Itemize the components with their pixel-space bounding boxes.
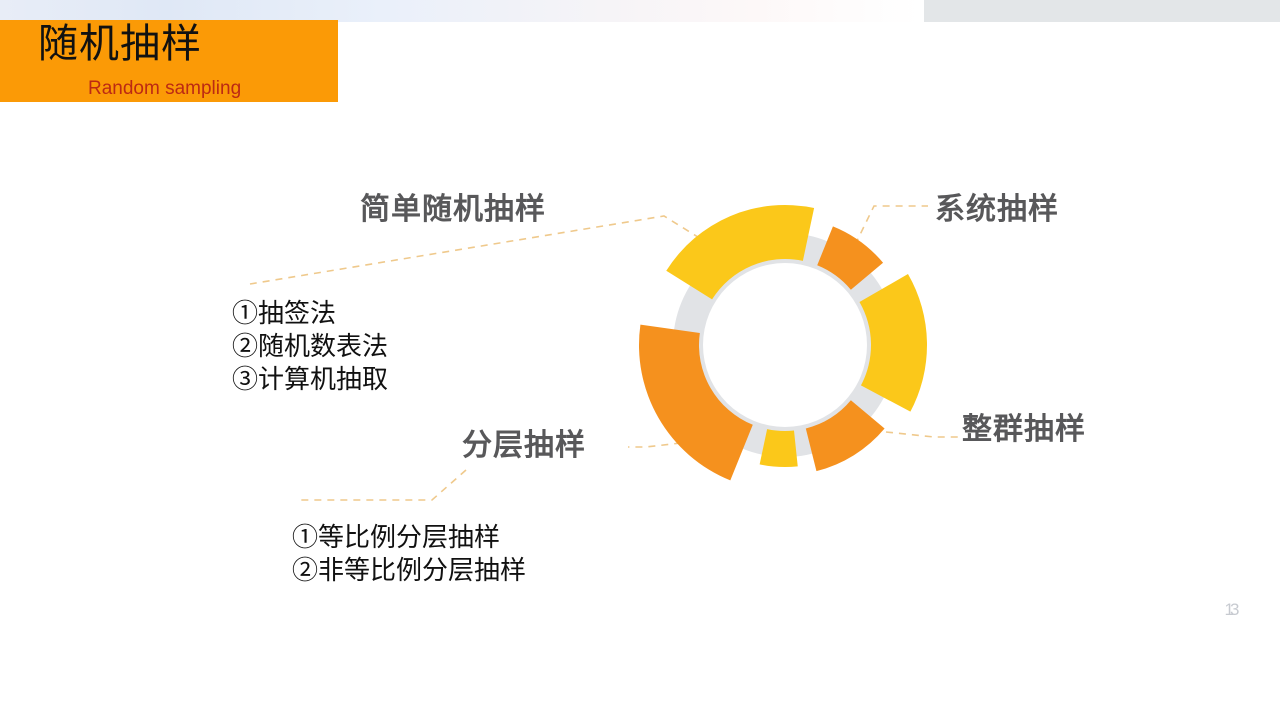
label-stratified-sampling: 分层抽样: [462, 428, 586, 464]
list-item: ①等比例分层抽样: [292, 522, 526, 555]
label-systematic-sampling: 系统抽样: [935, 192, 1059, 228]
page-subtitle: Random sampling: [88, 78, 241, 100]
list-item: ②非等比例分层抽样: [292, 555, 526, 588]
list-stratified-methods: ①等比例分层抽样 ②非等比例分层抽样: [292, 522, 526, 588]
list-simple-random-methods: ①抽签法 ②随机数表法 ③计算机抽取: [232, 298, 388, 397]
label-simple-random-sampling: 简单随机抽样: [360, 192, 546, 228]
top-gray-band: [920, 0, 1280, 22]
page-number: 13: [1206, 600, 1254, 620]
label-cluster-sampling: 整群抽样: [962, 412, 1086, 448]
donut-chart: [650, 210, 920, 480]
connector-stratified-left: [296, 470, 466, 500]
page-title: 随机抽样: [38, 22, 202, 66]
slide-canvas: 随机抽样 Random sampling 简单随机抽样 系统抽样 分层抽样 整群…: [0, 0, 1280, 720]
list-item: ②随机数表法: [232, 331, 388, 364]
list-item: ③计算机抽取: [232, 364, 388, 397]
donut-chart-svg: [650, 210, 920, 480]
list-item: ①抽签法: [232, 298, 388, 331]
donut-segments: [639, 205, 927, 480]
donut-segment-1: [666, 205, 814, 299]
top-gradient-band: [0, 0, 920, 22]
donut-segment-6: [639, 325, 753, 481]
top-gray-band-edge: [920, 0, 924, 22]
